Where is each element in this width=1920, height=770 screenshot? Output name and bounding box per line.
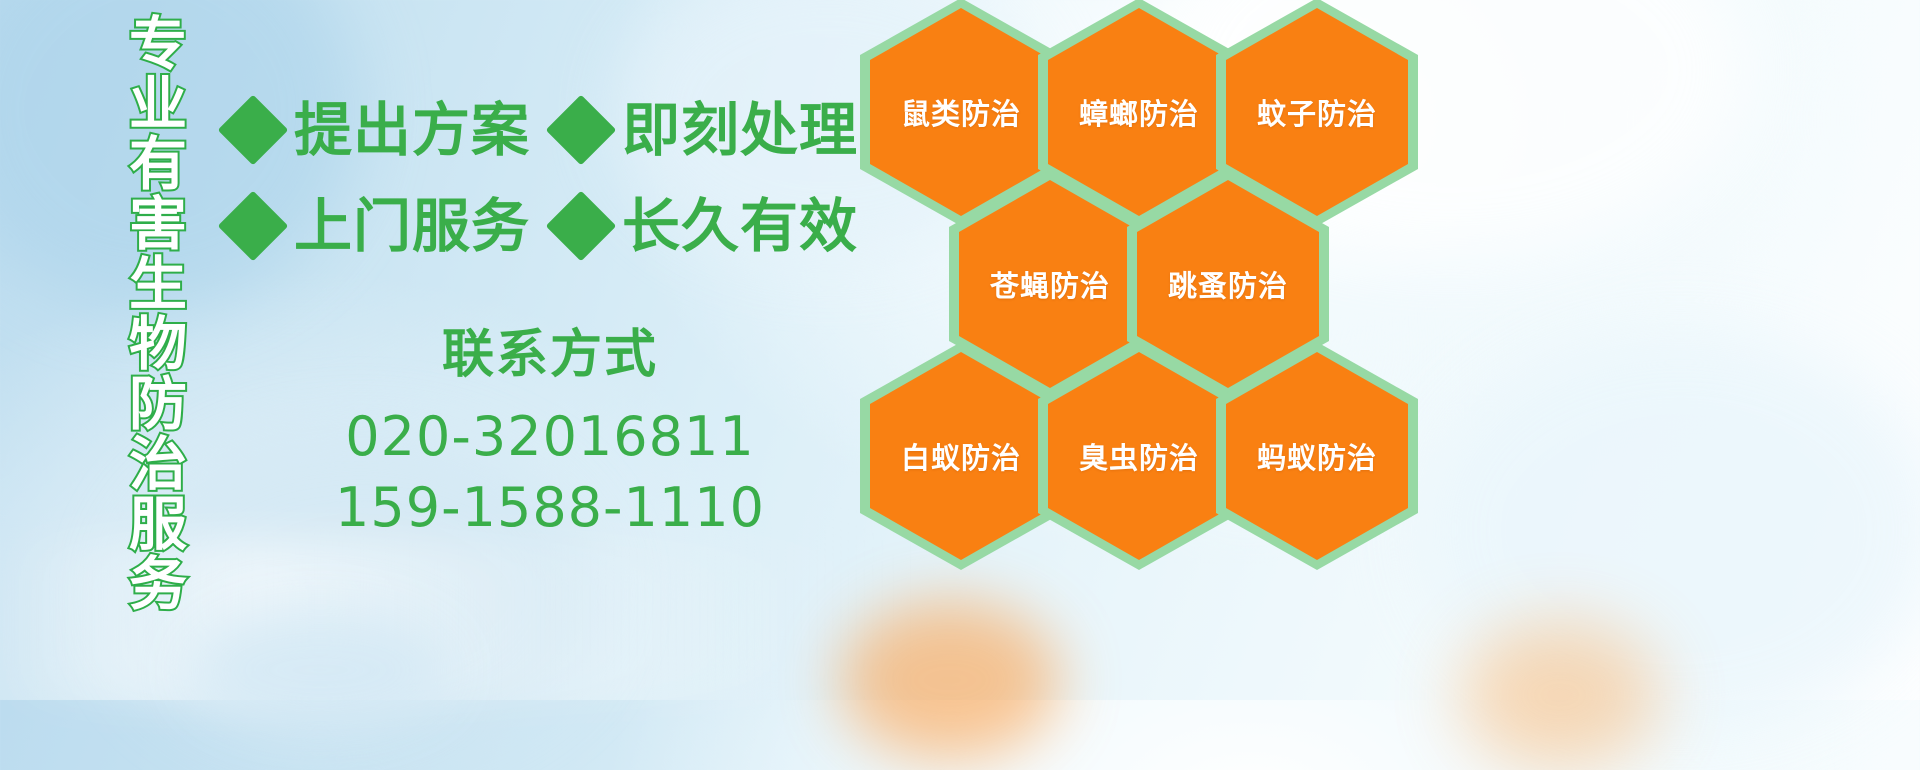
service-hexagon-label: 臭虫防治	[1079, 435, 1199, 477]
contact-block: 联系方式 020-32016811 159-1588-1110	[230, 312, 870, 544]
service-hexagon-label: 蚊子防治	[1257, 91, 1377, 133]
vertical-slogan-char: 生	[129, 254, 187, 314]
service-hexagon-label: 蟑螂防治	[1079, 91, 1199, 133]
background-blob-right	[1420, 330, 1920, 730]
diamond-bullet-icon	[218, 95, 289, 166]
vertical-slogan-char: 防	[129, 374, 187, 434]
background-orange-glow-2	[1460, 620, 1660, 770]
vertical-slogan-char: 害	[129, 194, 187, 254]
contact-title: 联系方式	[230, 312, 870, 387]
service-hexagon-fill: 臭虫防治	[1048, 352, 1230, 560]
vertical-slogan-char: 治	[129, 434, 187, 494]
feature-row-top: 提出方案 即刻处理	[228, 82, 868, 178]
vertical-slogan-char: 物	[129, 314, 187, 374]
feature-label-long-lasting: 长久有效	[622, 197, 858, 255]
service-honeycomb: 鼠类防治蟑螂防治蚊子防治苍蝇防治跳蚤防治白蚁防治臭虫防治蚂蚁防治	[846, 0, 1466, 708]
feature-label-onsite-service: 上门服务	[294, 197, 530, 255]
feature-row-bottom: 上门服务 长久有效	[228, 178, 868, 274]
service-hexagon-label: 蚂蚁防治	[1257, 435, 1377, 477]
service-hexagon-label: 鼠类防治	[901, 91, 1021, 133]
vertical-slogan-char: 业	[129, 74, 187, 134]
feature-label-immediate-handling: 即刻处理	[622, 101, 858, 159]
vertical-slogan-char: 服	[129, 494, 187, 554]
vertical-slogan-char: 务	[129, 554, 187, 614]
feature-list: 提出方案 即刻处理 上门服务 长久有效	[228, 82, 868, 274]
service-hexagon-label: 苍蝇防治	[990, 263, 1110, 305]
service-hexagon-label: 白蚁防治	[901, 435, 1021, 477]
service-hexagon-fill: 白蚁防治	[870, 352, 1052, 560]
diamond-bullet-icon	[546, 191, 617, 262]
feature-label-propose-plan: 提出方案	[294, 101, 530, 159]
vertical-slogan: 专业有害生物防治服务	[108, 14, 208, 574]
vertical-slogan-char: 有	[129, 134, 187, 194]
diamond-bullet-icon	[546, 95, 617, 166]
contact-phone-landline[interactable]: 020-32016811	[230, 401, 870, 472]
service-hexagon-fill: 蚂蚁防治	[1226, 352, 1408, 560]
diamond-bullet-icon	[218, 191, 289, 262]
vertical-slogan-char: 专	[129, 14, 187, 74]
contact-phone-mobile[interactable]: 159-1588-1110	[230, 472, 870, 543]
background-light-streak-2	[190, 610, 450, 730]
service-hexagon-label: 跳蚤防治	[1168, 263, 1288, 305]
